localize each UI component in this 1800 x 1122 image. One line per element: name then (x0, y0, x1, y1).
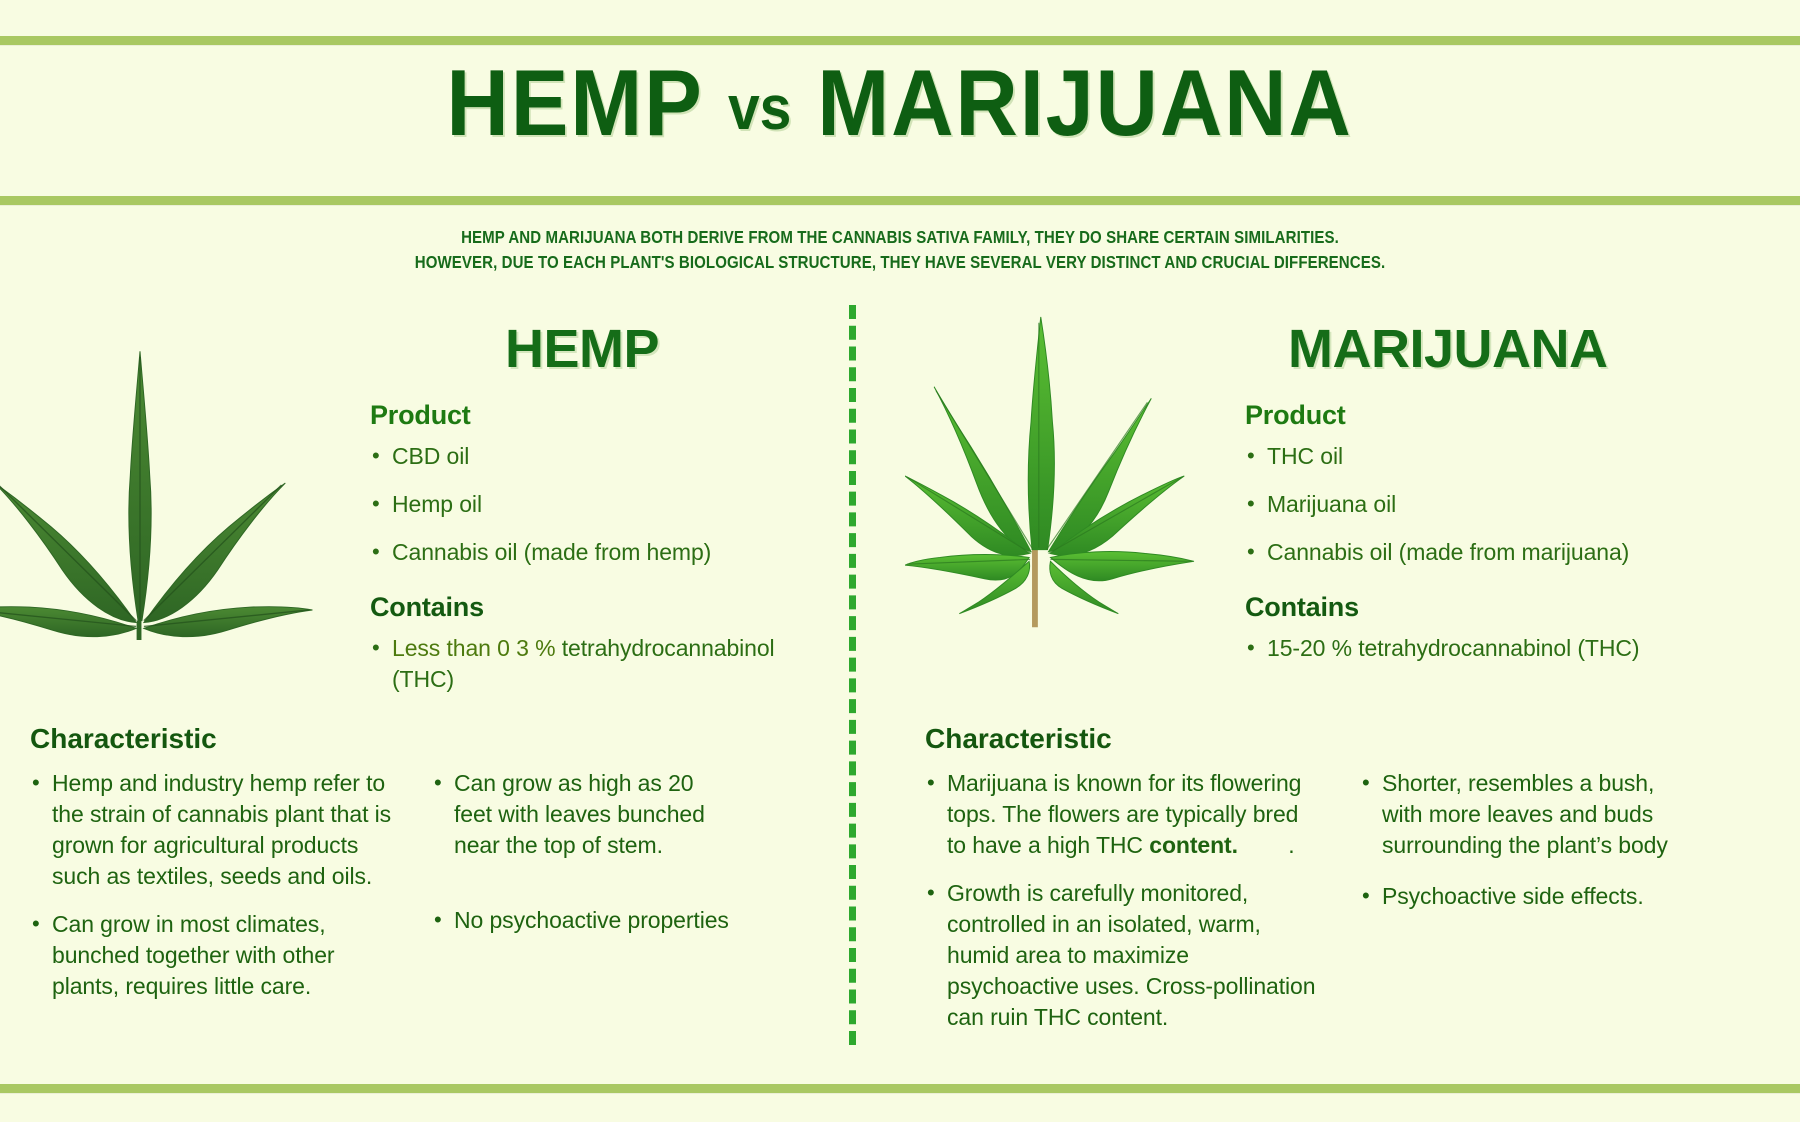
marijuana-product-block: Product THC oil Marijuana oil Cannabis o… (1245, 400, 1715, 585)
hemp-characteristic-heading: Characteristic (30, 723, 217, 755)
marijuana-characteristic-list-1: Marijuana is known for its flowering top… (925, 768, 1320, 1033)
page-title: HEMP vs MARIJUANA (0, 56, 1800, 150)
hemp-contains-heading: Contains (370, 592, 810, 623)
hemp-product-block: Product CBD oil Hemp oil Cannabis oil (m… (370, 400, 800, 585)
hemp-product-list: CBD oil Hemp oil Cannabis oil (made from… (370, 441, 800, 568)
hemp-product-heading: Product (370, 400, 800, 431)
subtitle: HEMP AND MARIJUANA BOTH DERIVE FROM THE … (0, 225, 1800, 275)
marijuana-char-1-bold: content. (1149, 832, 1238, 858)
hemp-thc-highlight: Less than 0 3 % (392, 635, 555, 661)
list-item: Can grow as high as 20 feet with leaves … (432, 768, 732, 861)
list-item: THC oil (1245, 441, 1715, 472)
marijuana-char-1-post: . (1238, 832, 1295, 858)
list-item: Hemp oil (370, 489, 800, 520)
infographic-page: HEMP vs MARIJUANA HEMP AND MARIJUANA BOT… (0, 0, 1800, 1122)
list-item: Marijuana oil (1245, 489, 1715, 520)
top-divider-rule (0, 36, 1800, 45)
list-item: Psychoactive side effects. (1360, 881, 1690, 912)
column-divider (849, 305, 856, 1045)
list-item: 15-20 % tetrahydrocannabinol (THC) (1245, 633, 1715, 664)
marijuana-contains-block: Contains 15-20 % tetrahydrocannabinol (T… (1245, 592, 1715, 681)
marijuana-product-heading: Product (1245, 400, 1715, 431)
marijuana-column-heading: MARIJUANA (1288, 318, 1608, 380)
hemp-characteristic-list-2: Can grow as high as 20 feet with leaves … (432, 768, 732, 936)
title-hemp: HEMP (447, 50, 703, 155)
header-divider-rule (0, 196, 1800, 205)
list-item: Marijuana is known for its flowering top… (925, 768, 1320, 861)
hemp-contains-block: Contains Less than 0 3 % tetrahydrocanna… (370, 592, 810, 712)
list-item: Less than 0 3 % tetrahydrocannabinol (TH… (370, 633, 810, 695)
marijuana-characteristic-list-2: Shorter, resembles a bush, with more lea… (1360, 768, 1690, 912)
marijuana-characteristic-column-1: Marijuana is known for its flowering top… (925, 768, 1320, 1050)
hemp-column-heading: HEMP (505, 318, 659, 380)
list-item: Hemp and industry hemp refer to the stra… (30, 768, 405, 892)
hemp-characteristic-column-1: Hemp and industry hemp refer to the stra… (30, 768, 405, 1019)
marijuana-product-list: THC oil Marijuana oil Cannabis oil (made… (1245, 441, 1715, 568)
marijuana-contains-list: 15-20 % tetrahydrocannabinol (THC) (1245, 633, 1715, 664)
list-item: Cannabis oil (made from hemp) (370, 537, 800, 568)
list-item: CBD oil (370, 441, 800, 472)
list-item: Can grow in most climates, bunched toget… (30, 909, 405, 1002)
marijuana-contains-heading: Contains (1245, 592, 1715, 623)
subtitle-line-1: HEMP AND MARIJUANA BOTH DERIVE FROM THE … (126, 225, 1674, 250)
list-item: No psychoactive properties (432, 905, 732, 936)
marijuana-characteristic-heading: Characteristic (925, 723, 1112, 755)
list-item: Growth is carefully monitored, controlle… (925, 878, 1320, 1033)
title-marijuana: MARIJUANA (818, 50, 1353, 155)
list-item: Shorter, resembles a bush, with more lea… (1360, 768, 1690, 861)
hemp-contains-list: Less than 0 3 % tetrahydrocannabinol (TH… (370, 633, 810, 695)
title-vs: vs (728, 74, 791, 143)
list-item: Cannabis oil (made from marijuana) (1245, 537, 1715, 568)
bottom-divider-rule (0, 1084, 1800, 1093)
hemp-characteristic-list-1: Hemp and industry hemp refer to the stra… (30, 768, 405, 1002)
hemp-cannabis-leaf-icon (0, 330, 320, 640)
marijuana-characteristic-column-2: Shorter, resembles a bush, with more lea… (1360, 768, 1690, 929)
marijuana-cannabis-leaf-icon (905, 305, 1225, 645)
hemp-characteristic-column-2: Can grow as high as 20 feet with leaves … (432, 768, 732, 953)
subtitle-line-2: HOWEVER, DUE TO EACH PLANT'S BIOLOGICAL … (126, 250, 1674, 275)
